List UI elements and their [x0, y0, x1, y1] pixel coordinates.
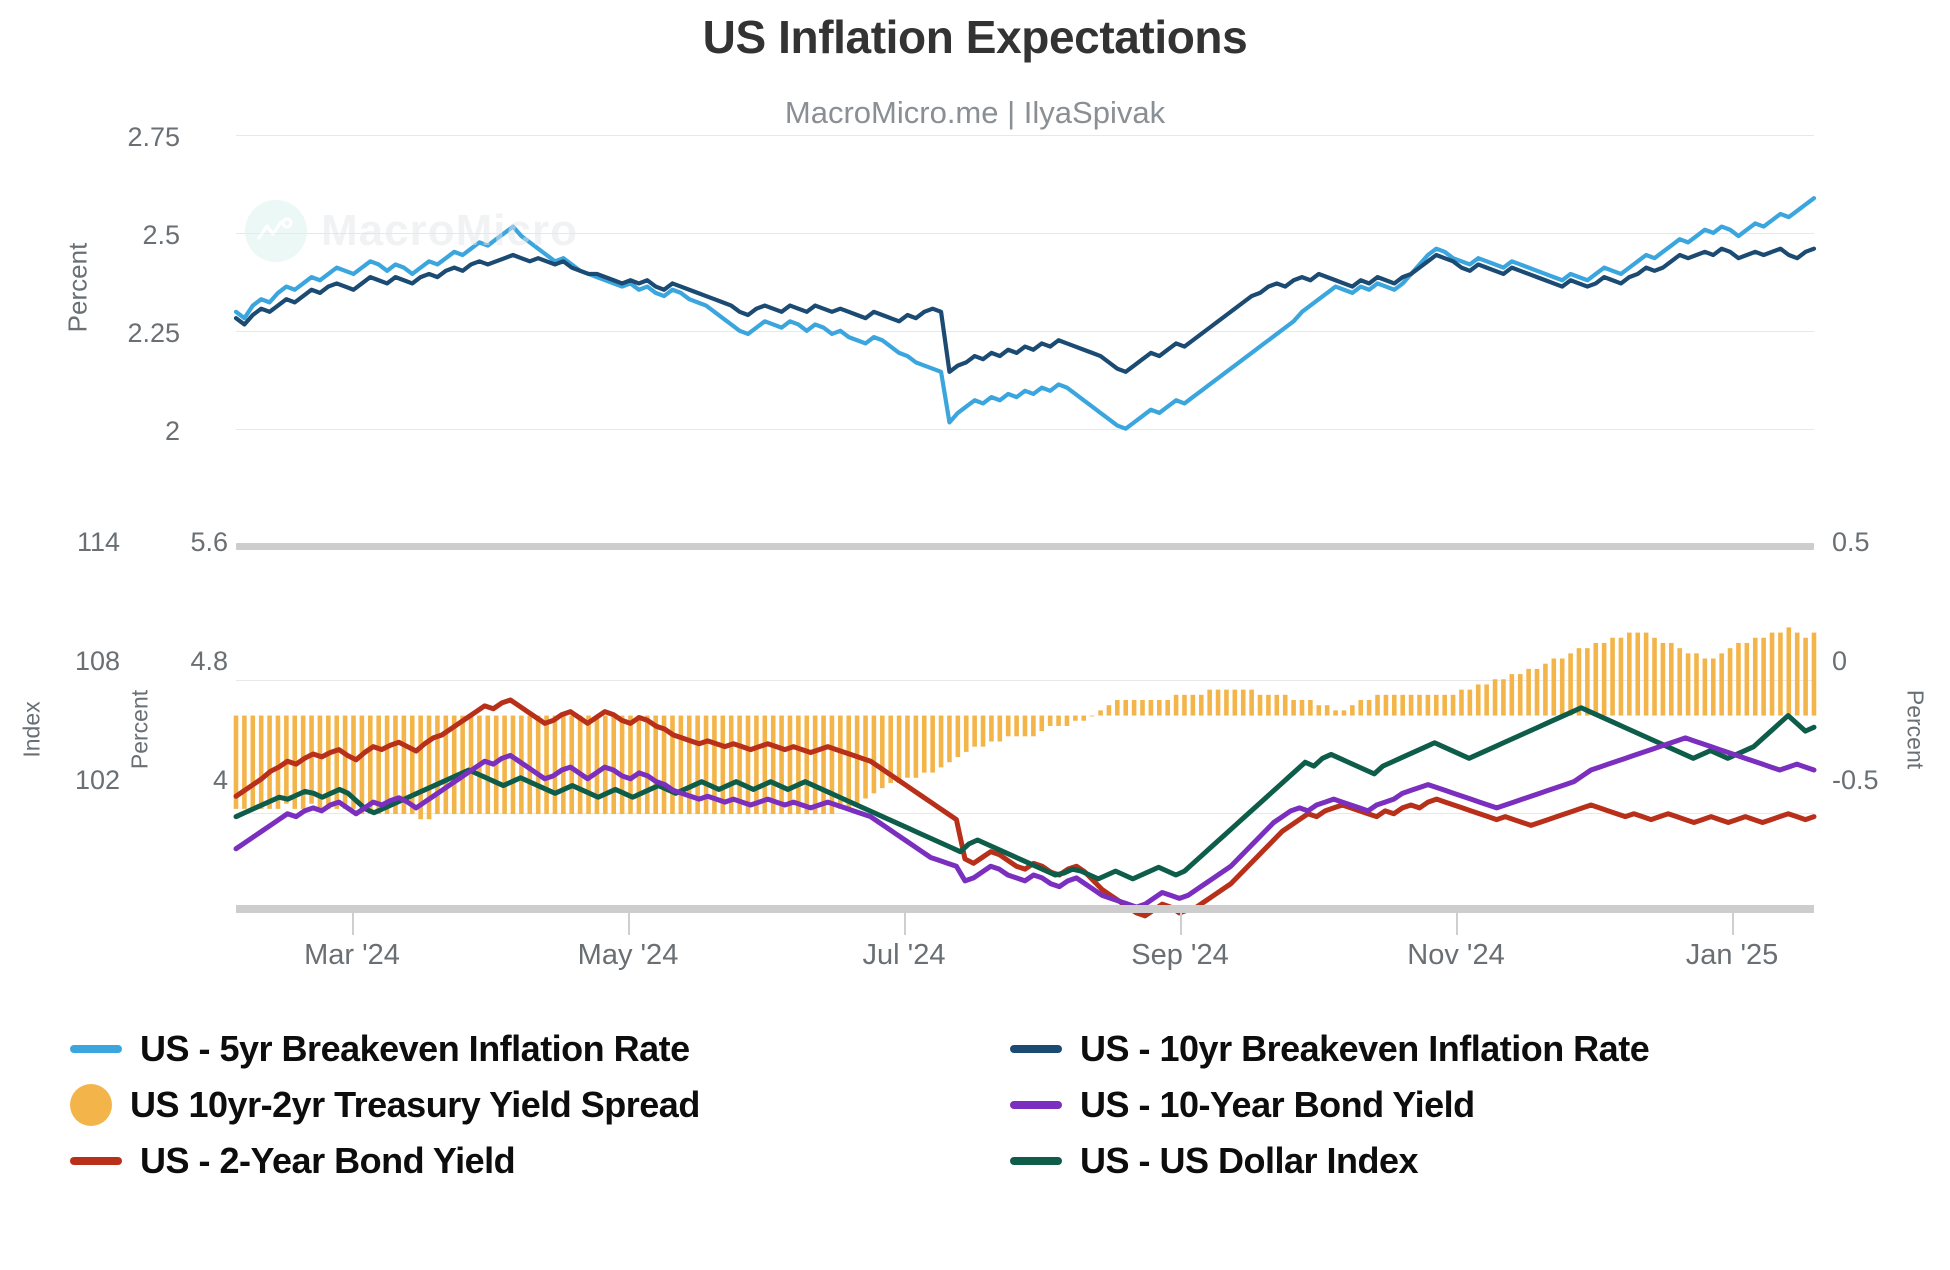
chart-legend: US - 5yr Breakeven Inflation Rate US - 1…: [70, 1028, 1890, 1182]
legend-swatch-line-icon: [1010, 1157, 1062, 1165]
legend-label: US - 2-Year Bond Yield: [140, 1140, 515, 1182]
legend-label: US - 10-Year Bond Yield: [1080, 1084, 1475, 1126]
macromicro-watermark: MacroMicro: [245, 200, 578, 262]
x-tickmark: [1732, 913, 1734, 935]
axis-title-index: Index: [19, 670, 46, 790]
legend-label: US - 5yr Breakeven Inflation Rate: [140, 1028, 690, 1070]
legend-swatch-line-icon: [70, 1157, 122, 1165]
x-tickmark: [628, 913, 630, 935]
legend-item-us-dollar-index[interactable]: US - US Dollar Index: [1010, 1140, 1890, 1182]
axis-title-right-percent: Percent: [1902, 670, 1929, 790]
x-tickmark: [1180, 913, 1182, 935]
x-axis: Mar '24 May '24 Jul '24 Sep '24 Nov '24 …: [236, 905, 1814, 995]
watermark-text: MacroMicro: [321, 206, 578, 256]
x-axis-band: [236, 905, 1814, 913]
ytick-pct-0: 5.6: [118, 527, 228, 558]
chart-subtitle: MacroMicro.me | IlyaSpivak: [0, 95, 1950, 131]
legend-item-10yr-breakeven[interactable]: US - 10yr Breakeven Inflation Rate: [1010, 1028, 1890, 1070]
axis-title-top-percent: Percent: [63, 228, 94, 348]
x-label-sep-24: Sep '24: [1131, 939, 1228, 972]
x-label-nov-24: Nov '24: [1407, 939, 1504, 972]
x-label-jan-25: Jan '25: [1686, 939, 1779, 972]
axis-title-bottom-percent: Percent: [127, 670, 154, 790]
yields-dollar-spread-panel: [236, 560, 1814, 910]
x-tickmark: [904, 913, 906, 935]
legend-label: US - US Dollar Index: [1080, 1140, 1418, 1182]
top-panel-series: [236, 135, 1814, 435]
legend-swatch-line-icon: [1010, 1045, 1062, 1053]
legend-item-5yr-breakeven[interactable]: US - 5yr Breakeven Inflation Rate: [70, 1028, 1010, 1070]
page-title: US Inflation Expectations: [0, 10, 1950, 64]
legend-item-2-year-bond-yield[interactable]: US - 2-Year Bond Yield: [70, 1140, 1010, 1182]
macromicro-logo-icon: [245, 200, 307, 262]
legend-label: US 10yr-2yr Treasury Yield Spread: [130, 1084, 700, 1126]
bottom-panel-series: [236, 560, 1814, 910]
legend-label: US - 10yr Breakeven Inflation Rate: [1080, 1028, 1649, 1070]
x-label-may-24: May '24: [578, 939, 679, 972]
ytick-top-3: 2: [60, 416, 180, 447]
panel-divider-band: [236, 543, 1814, 550]
ytick-top-0: 2.75: [60, 122, 180, 153]
x-tickmark: [352, 913, 354, 935]
x-label-mar-24: Mar '24: [304, 939, 400, 972]
legend-swatch-line-icon: [1010, 1101, 1062, 1109]
legend-swatch-dot-icon: [70, 1084, 112, 1126]
legend-item-10yr-2yr-spread[interactable]: US 10yr-2yr Treasury Yield Spread: [70, 1084, 1010, 1126]
breakeven-inflation-panel: [236, 135, 1814, 435]
ytick-right-0: 0.5: [1832, 527, 1942, 558]
ytick-index-0: 114: [10, 527, 120, 558]
x-tickmark: [1456, 913, 1458, 935]
legend-swatch-line-icon: [70, 1045, 122, 1053]
chart-root: US Inflation Expectations MacroMicro.me …: [0, 0, 1950, 1270]
x-label-jul-24: Jul '24: [863, 939, 946, 972]
legend-item-10-year-bond-yield[interactable]: US - 10-Year Bond Yield: [1010, 1084, 1890, 1126]
